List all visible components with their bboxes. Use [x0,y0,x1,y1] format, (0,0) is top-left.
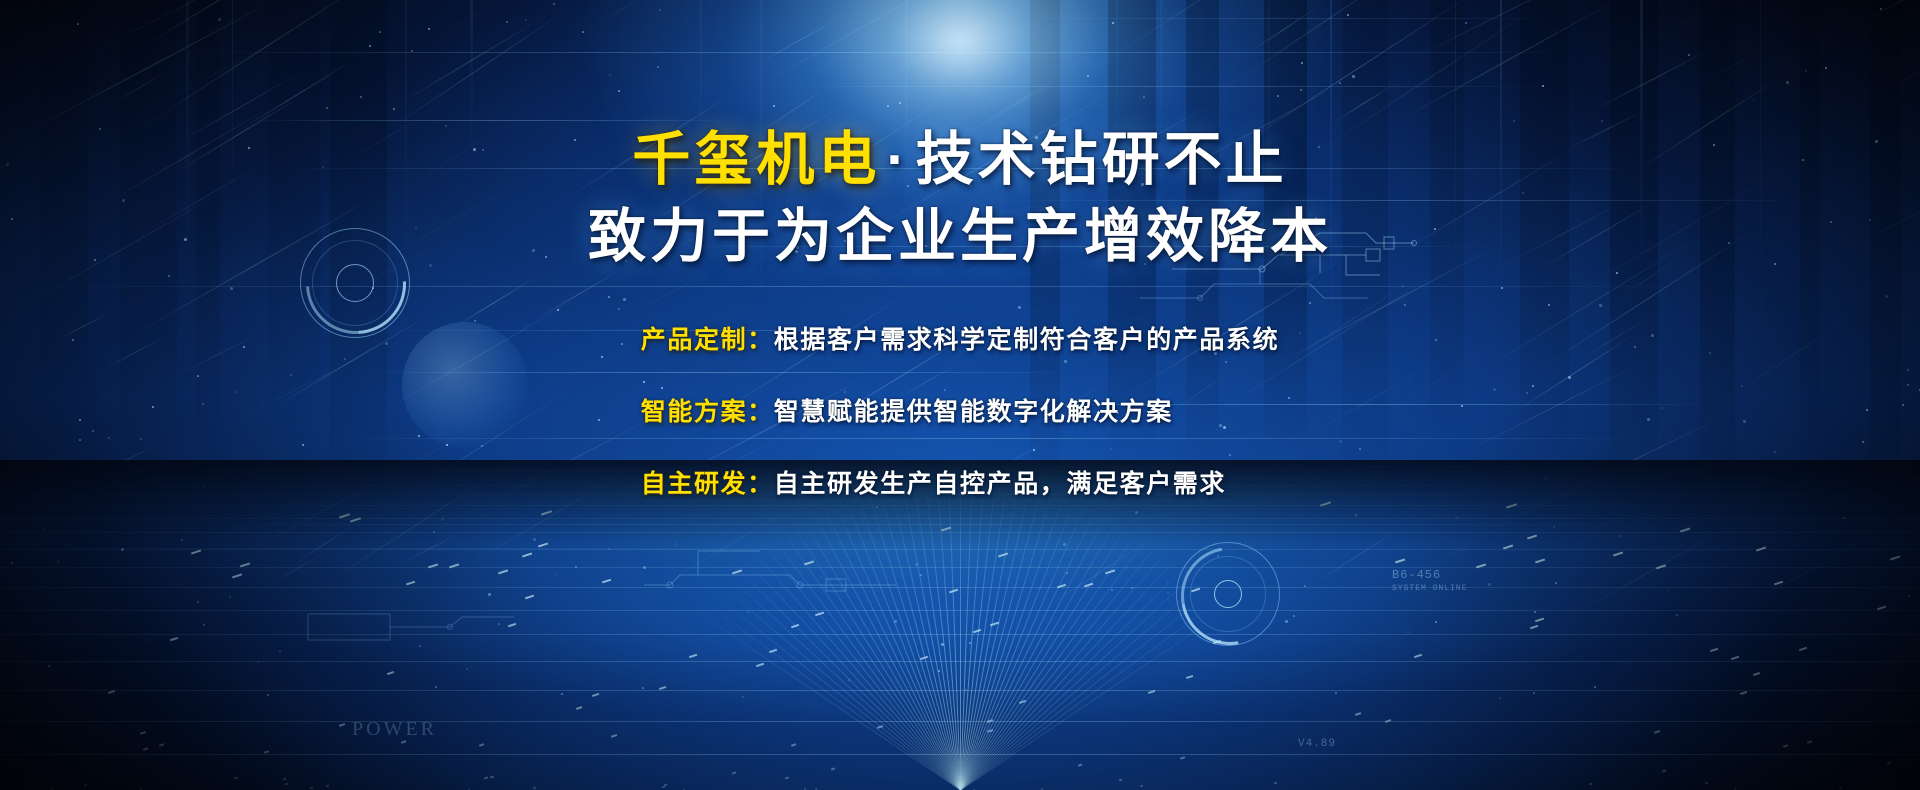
bullet-tag: 产品定制： [641,326,774,354]
bullet-list: 产品定制：根据客户需求科学定制符合客户的产品系统 智能方案：智慧赋能提供智能数字… [641,320,1279,500]
banner-content: 千玺机电·技术钻研不止 致力于为企业生产增效降本 产品定制：根据客户需求科学定制… [0,0,1920,790]
bullet-item-self-rnd: 自主研发：自主研发生产自控产品，满足客户需求 [641,464,1279,500]
bullet-text: 自主研发生产自控产品，满足客户需求 [774,470,1226,498]
headline-line-2: 致力于为企业生产增效降本 [588,205,1332,270]
brand-name: 千玺机电 [632,127,880,192]
headline-separator: · [880,127,915,192]
hero-banner: B6-456 SYSTEM ONLINE V4.89 POWER 千玺机电·技术… [0,0,1920,790]
bullet-item-smart-solution: 智能方案：智慧赋能提供智能数字化解决方案 [641,392,1279,428]
bullet-tag: 智能方案： [641,398,774,426]
bullet-text: 智慧赋能提供智能数字化解决方案 [774,398,1173,426]
headline-line-1: 千玺机电·技术钻研不止 [632,128,1287,193]
bullet-item-product-custom: 产品定制：根据客户需求科学定制符合客户的产品系统 [641,320,1279,356]
bullet-text: 根据客户需求科学定制符合客户的产品系统 [774,326,1279,354]
headline-line-1-rest: 技术钻研不止 [916,127,1288,192]
bullet-tag: 自主研发： [641,470,774,498]
